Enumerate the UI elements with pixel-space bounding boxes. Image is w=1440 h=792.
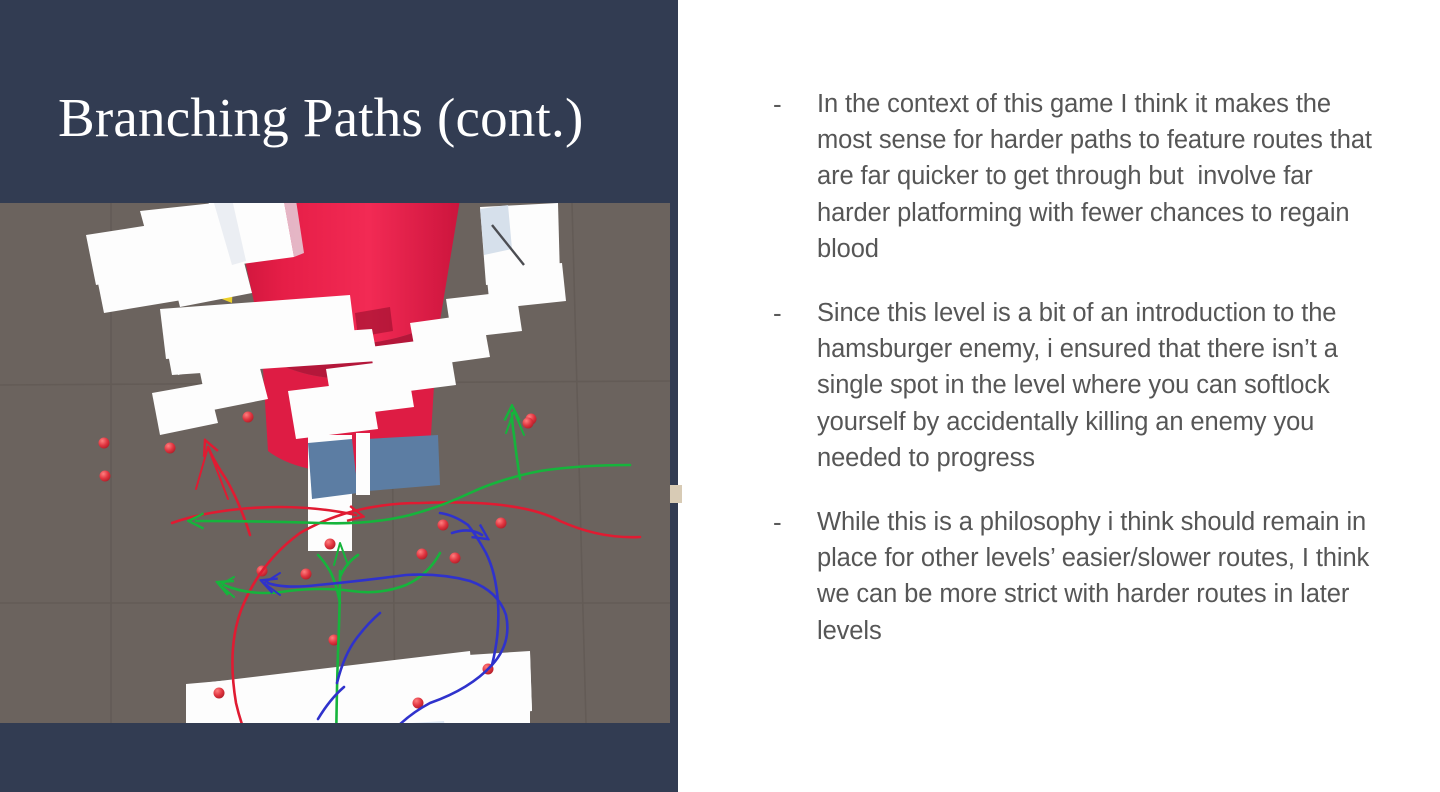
bullet-text: In the context of this game I think it m… <box>817 86 1383 267</box>
clipped-prop <box>670 485 682 503</box>
bullet-marker-icon: - <box>773 504 817 540</box>
list-item: - In the context of this game I think it… <box>773 86 1383 267</box>
bullet-list: - In the context of this game I think it… <box>773 86 1383 677</box>
level-layout-vector <box>0 203 670 723</box>
bullet-text: While this is a philosophy i think shoul… <box>817 504 1383 649</box>
bullet-text: Since this level is a bit of an introduc… <box>817 295 1383 476</box>
list-item: - Since this level is a bit of an introd… <box>773 295 1383 476</box>
content-panel: - In the context of this game I think it… <box>678 0 1440 792</box>
title-panel: Branching Paths (cont.) <box>0 0 678 792</box>
level-layout-screenshot <box>0 203 670 723</box>
bullet-marker-icon: - <box>773 86 817 122</box>
bullet-marker-icon: - <box>773 295 817 331</box>
presentation-slide: Branching Paths (cont.) - In the context… <box>0 0 1440 792</box>
page-title: Branching Paths (cont.) <box>58 88 658 148</box>
list-item: - While this is a philosophy i think sho… <box>773 504 1383 649</box>
